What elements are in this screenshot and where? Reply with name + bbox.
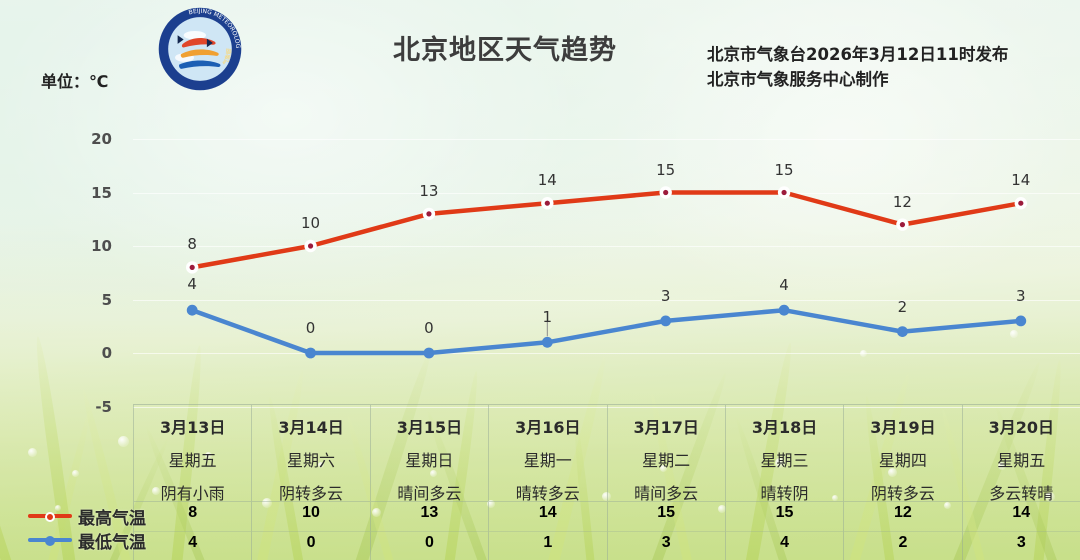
legend-item-high: 最高气温 (28, 504, 146, 528)
table-divider (726, 501, 843, 502)
data-point-low (897, 326, 908, 337)
weather-trend-poster: BEIJING METEOROLOGICAL SERVICE 气象服务 北京地区… (0, 0, 1080, 560)
data-point-high-core (900, 222, 905, 227)
table-divider (726, 531, 843, 532)
data-label-low: 0 (399, 319, 459, 337)
data-point-low (1015, 316, 1026, 327)
table-divider (252, 501, 369, 502)
data-label-high: 14 (517, 171, 577, 189)
forecast-date: 3月16日 (489, 414, 606, 438)
forecast-date: 3月20日 (963, 414, 1080, 438)
forecast-table: 3月13日星期五阴有小雨843月14日星期六阴转多云1003月15日星期日晴间多… (133, 404, 1080, 560)
forecast-high-temp: 8 (134, 504, 251, 522)
forecast-weekday: 星期六 (252, 447, 369, 471)
legend-marker-low (28, 535, 72, 545)
forecast-column: 3月19日星期四阴转多云122 (843, 405, 961, 560)
forecast-column: 3月14日星期六阴转多云100 (251, 405, 369, 560)
table-divider (608, 531, 725, 532)
data-label-low: 0 (281, 319, 341, 337)
forecast-low-temp: 4 (726, 534, 843, 552)
data-point-low (187, 305, 198, 316)
table-divider (134, 501, 251, 502)
forecast-weekday: 星期四 (844, 447, 961, 471)
forecast-high-temp: 14 (963, 504, 1080, 522)
table-divider (963, 501, 1080, 502)
forecast-date: 3月14日 (252, 414, 369, 438)
data-point-high-core (426, 211, 431, 216)
data-label-low: 2 (872, 298, 932, 316)
forecast-weekday: 星期五 (134, 447, 251, 471)
data-point-high-core (1018, 201, 1023, 206)
forecast-high-temp: 15 (726, 504, 843, 522)
data-label-low: 4 (754, 276, 814, 294)
data-label-low: 3 (636, 287, 696, 305)
forecast-column: 3月17日星期二晴间多云153 (607, 405, 725, 560)
data-label-low: 4 (162, 275, 222, 293)
forecast-weekday: 星期一 (489, 447, 606, 471)
data-label-high: 15 (636, 161, 696, 179)
forecast-column: 3月16日星期一晴转多云141 (488, 405, 606, 560)
forecast-high-temp: 14 (489, 504, 606, 522)
forecast-column: 3月15日星期日晴间多云130 (370, 405, 488, 560)
forecast-column: 3月13日星期五阴有小雨84 (133, 405, 251, 560)
forecast-low-temp: 0 (252, 534, 369, 552)
forecast-date: 3月17日 (608, 414, 725, 438)
forecast-weekday: 星期五 (963, 447, 1080, 471)
table-divider (489, 501, 606, 502)
data-point-low (305, 348, 316, 359)
table-divider (489, 531, 606, 532)
forecast-low-temp: 0 (371, 534, 488, 552)
forecast-weekday: 星期日 (371, 447, 488, 471)
data-point-high-core (663, 190, 668, 195)
legend-marker-high (28, 511, 72, 521)
legend-label-high: 最高气温 (78, 504, 146, 529)
table-divider (371, 501, 488, 502)
data-point-low (660, 316, 671, 327)
forecast-date: 3月18日 (726, 414, 843, 438)
data-label-high: 13 (399, 182, 459, 200)
forecast-low-temp: 1 (489, 534, 606, 552)
data-label-high: 14 (991, 171, 1051, 189)
data-label-high: 15 (754, 161, 814, 179)
data-point-low (424, 348, 435, 359)
data-label-high: 10 (281, 214, 341, 232)
data-point-high-core (190, 265, 195, 270)
forecast-low-temp: 3 (608, 534, 725, 552)
forecast-high-temp: 15 (608, 504, 725, 522)
forecast-low-temp: 4 (134, 534, 251, 552)
forecast-high-temp: 10 (252, 504, 369, 522)
table-divider (844, 531, 961, 532)
forecast-high-temp: 13 (371, 504, 488, 522)
table-divider (371, 531, 488, 532)
forecast-date: 3月13日 (134, 414, 251, 438)
table-divider (252, 531, 369, 532)
chart-legend: 最高气温 最低气温 (28, 504, 146, 552)
forecast-high-temp: 12 (844, 504, 961, 522)
data-point-high-core (545, 201, 550, 206)
data-label-low: 1 (517, 308, 577, 326)
forecast-column: 3月18日星期三晴转阴154 (725, 405, 843, 560)
data-point-high-core (308, 243, 313, 248)
data-point-low (542, 337, 553, 348)
data-point-high-core (781, 190, 786, 195)
legend-label-low: 最低气温 (78, 528, 146, 553)
forecast-weekday: 星期二 (608, 447, 725, 471)
data-label-high: 8 (162, 235, 222, 253)
forecast-column: 3月20日星期五多云转晴143 (962, 405, 1080, 560)
forecast-low-temp: 2 (844, 534, 961, 552)
forecast-low-temp: 3 (963, 534, 1080, 552)
forecast-date: 3月19日 (844, 414, 961, 438)
data-point-low (779, 305, 790, 316)
table-divider (844, 501, 961, 502)
data-label-low: 3 (991, 287, 1051, 305)
legend-item-low: 最低气温 (28, 528, 146, 552)
forecast-weekday: 星期三 (726, 447, 843, 471)
forecast-date: 3月15日 (371, 414, 488, 438)
table-divider (963, 531, 1080, 532)
table-divider (608, 501, 725, 502)
data-label-high: 12 (872, 193, 932, 211)
table-divider (134, 531, 251, 532)
